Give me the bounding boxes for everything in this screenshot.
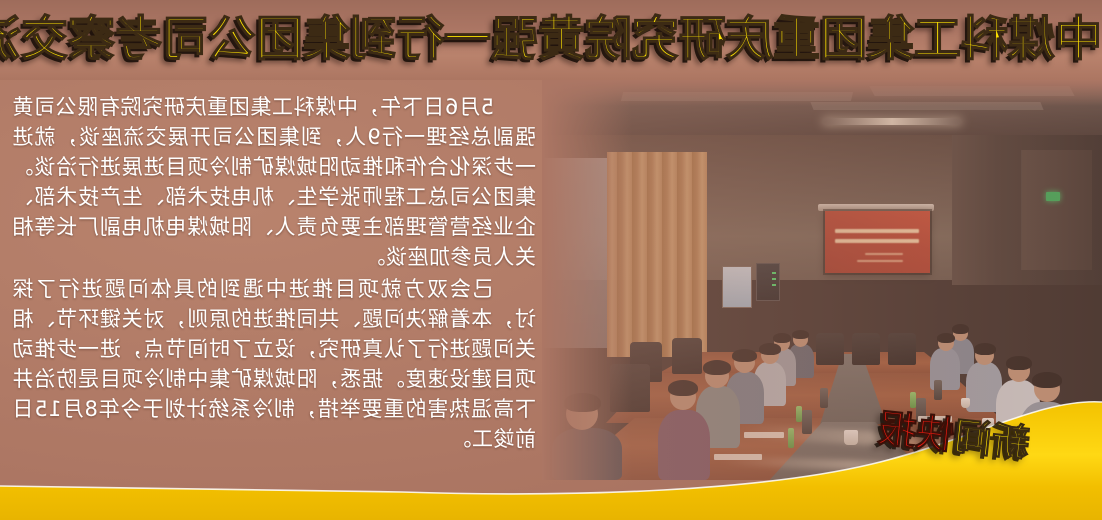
attendee-hair <box>792 330 809 339</box>
water-bottle <box>910 392 916 408</box>
wall-picture <box>722 266 752 308</box>
screen-frame <box>818 204 934 211</box>
attendee-hair <box>1032 372 1062 388</box>
chair <box>672 338 702 374</box>
tea-cup <box>844 430 858 445</box>
document-paper <box>714 454 762 460</box>
exit-sign-icon <box>1046 192 1060 201</box>
door <box>1021 150 1092 270</box>
photo-edge-fade <box>542 80 1102 106</box>
attendee-hair <box>759 343 781 355</box>
attendee-hair <box>937 333 955 343</box>
chair <box>852 333 880 365</box>
document-paper <box>744 432 784 438</box>
attendee-hair <box>1062 402 1094 419</box>
wall-equipment-box <box>756 263 780 301</box>
tea-cup <box>961 398 970 408</box>
attendee <box>1046 432 1102 480</box>
attendee-hair <box>952 324 969 334</box>
chair <box>816 333 844 365</box>
news-poster: 中煤科工集团重庆研究院黄强一行到集团公司考察交流 <box>0 0 1102 520</box>
news-badge-part2: 快报 <box>876 406 956 458</box>
attendee-hair <box>703 360 731 375</box>
photo-edge-fade <box>542 80 632 480</box>
attendee-hair <box>1006 356 1032 370</box>
water-bottle <box>788 428 794 448</box>
thermos <box>934 380 942 400</box>
attendee-hair <box>974 343 996 355</box>
thermos <box>820 388 828 408</box>
projector-screen <box>825 211 930 273</box>
ceiling-light <box>822 118 962 125</box>
article-paragraph-2: 己会双方就项目推进中遇到的具体问题进行了探讨，本着解决问题、共同推进的原则，对关… <box>12 274 536 454</box>
title-band: 中煤科工集团重庆研究院黄强一行到集团公司考察交流 <box>0 0 1102 80</box>
page-title: 中煤科工集团重庆研究院黄强一行到集团公司考察交流 <box>0 14 1102 66</box>
chair <box>888 333 916 365</box>
news-badge-part1: 新闻 <box>952 414 1032 466</box>
article-body: 5月6日下午，中煤科工集团重庆研究院有限公司黄强副总经理一行9人，到集团公司开展… <box>12 92 536 456</box>
attendee-hair <box>773 333 791 343</box>
attendee-hair <box>732 349 757 362</box>
attendee-hair <box>668 380 698 396</box>
thermos <box>802 410 812 434</box>
article-paragraph-1: 5月6日下午，中煤科工集团重庆研究院有限公司黄强副总经理一行9人，到集团公司开展… <box>12 92 536 272</box>
attendee <box>658 410 710 480</box>
water-bottle <box>796 406 802 422</box>
